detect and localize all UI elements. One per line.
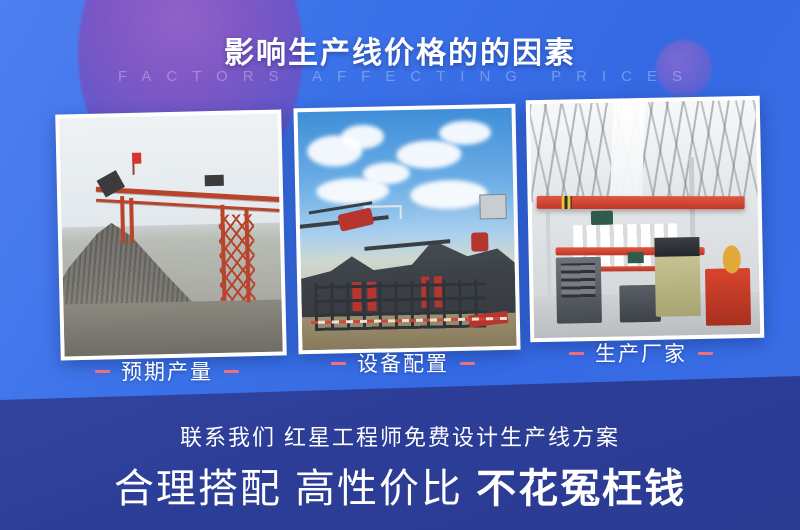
dash-left-icon	[95, 370, 110, 373]
footer-contact-line: 联系我们 红星工程师免费设计生产线方案	[0, 420, 800, 452]
dash-right-icon	[460, 362, 475, 365]
photo-card-equipment-config[interactable]	[293, 104, 520, 355]
page-title: 影响生产线价格的的因素	[0, 28, 800, 72]
dash-left-icon	[331, 362, 346, 365]
dash-left-icon	[569, 352, 584, 355]
caption-manufacturer: 生产厂家	[528, 338, 754, 368]
footer-slogan-part2: 不花冤枉钱	[476, 467, 686, 511]
caption-label: 生产厂家	[595, 338, 687, 368]
dash-right-icon	[224, 370, 239, 373]
stockpile-conveyor-photo	[59, 114, 282, 357]
photo-card-expected-output[interactable]	[55, 109, 287, 360]
footer-slogan-part1: 合理搭配 高性价比	[114, 467, 476, 511]
footer-slogan-line: 合理搭配 高性价比 不花冤枉钱	[0, 456, 800, 514]
caption-label: 预期产量	[121, 356, 213, 386]
crushing-plant-photo	[298, 108, 517, 350]
caption-label: 设备配置	[357, 348, 449, 378]
promo-banner: 影响生产线价格的的因素 FACTORS AFFECTING PRICES	[0, 0, 800, 530]
factory-interior-photo	[530, 100, 760, 338]
caption-equipment-config: 设备配置	[296, 348, 510, 378]
caption-expected-output: 预期产量	[58, 356, 276, 386]
photo-card-manufacturer[interactable]	[526, 96, 765, 342]
dash-right-icon	[698, 352, 713, 355]
